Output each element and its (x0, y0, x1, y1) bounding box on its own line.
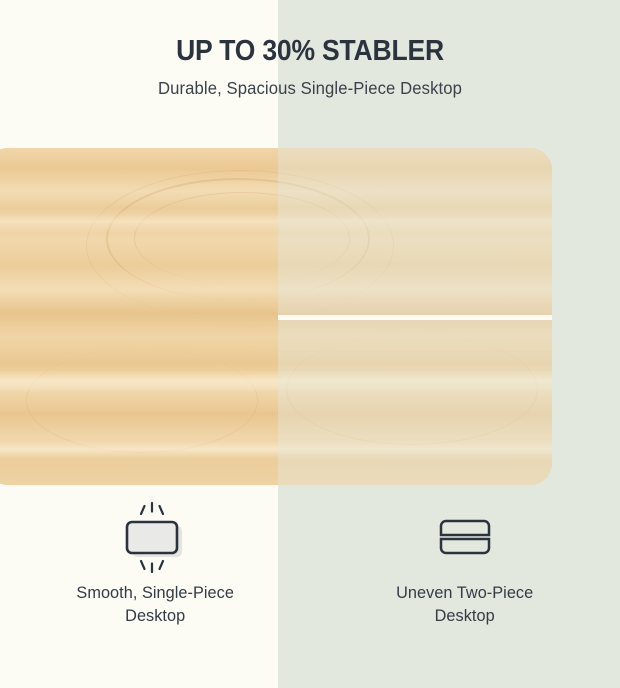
two-piece-icon-box (425, 498, 505, 574)
promo-banner: UP TO 30% STABLER Durable, Spacious Sing… (0, 0, 620, 688)
two-piece-desktop-icon (425, 499, 505, 573)
single-piece-icon-box (115, 498, 195, 574)
caption-line-1: Smooth, Single-Piece (76, 583, 234, 602)
comparison-item-two-piece: Uneven Two-Piece Desktop (310, 498, 620, 658)
comparison-caption: Smooth, Single-Piece Desktop (76, 574, 234, 627)
desktop-seam-line (278, 315, 552, 320)
wood-desktop-panel (0, 148, 552, 485)
wood-grain-arc (26, 348, 258, 453)
caption-line-1: Uneven Two-Piece (396, 583, 533, 602)
page-subtitle: Durable, Spacious Single-Piece Desktop (9, 68, 610, 99)
comparison-caption: Uneven Two-Piece Desktop (396, 574, 533, 627)
comparison-item-single-piece: Smooth, Single-Piece Desktop (0, 498, 310, 658)
caption-line-2: Desktop (435, 606, 495, 625)
header: UP TO 30% STABLER Durable, Spacious Sing… (0, 0, 620, 99)
comparison-row: Smooth, Single-Piece Desktop Uneven Two-… (0, 498, 620, 658)
single-piece-desktop-icon (115, 499, 195, 573)
page-title: UP TO 30% STABLER (22, 0, 599, 68)
caption-line-2: Desktop (125, 606, 185, 625)
